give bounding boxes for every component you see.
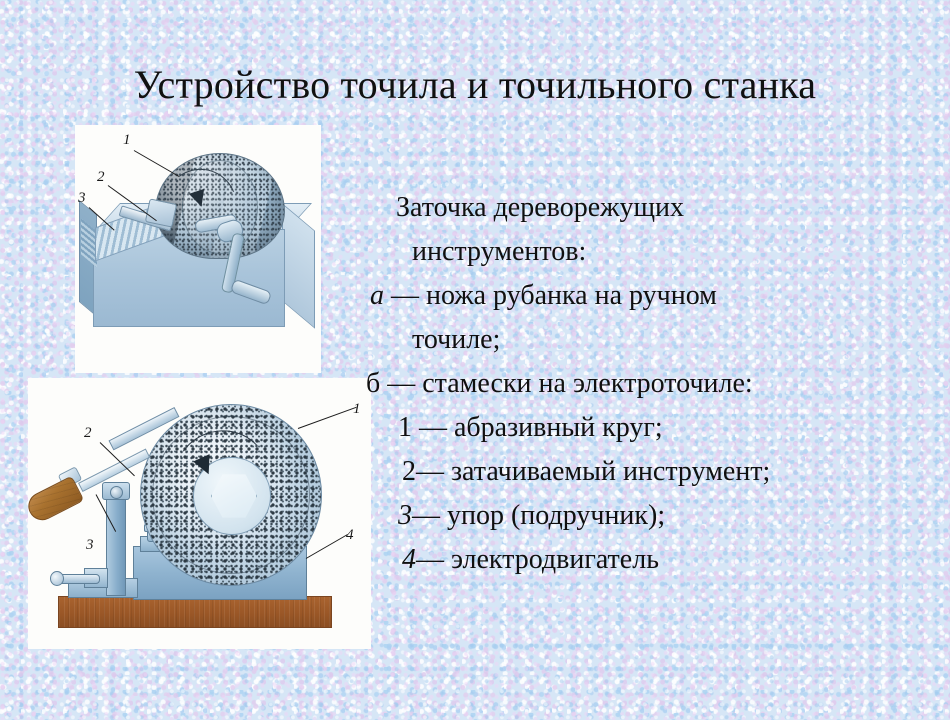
wooden-base [58, 596, 332, 628]
text-line-item-4: 4— электродвигатель [366, 538, 944, 582]
item-a-key: а [370, 280, 384, 311]
item-3-key: 3 [398, 500, 412, 531]
leader-line-elec-1 [298, 407, 357, 429]
figure-label-hand-2: 2 [97, 170, 105, 185]
wood-grain-texture [59, 597, 331, 627]
leader-line-hand-1 [134, 150, 180, 177]
hand-grinder-illustration: 1 2 3 [75, 125, 321, 373]
figure-label-elec-2: 2 [84, 426, 92, 441]
item-4-text: — электродвигатель [416, 544, 659, 575]
text-line-item-2: 2— затачиваемый инструмент; [366, 450, 944, 494]
figure-label-elec-3: 3 [86, 538, 94, 553]
chisel-wooden-handle [28, 476, 84, 525]
text-line-heading-1: Заточка дереворежущих [366, 186, 944, 230]
handle-grain-texture [28, 477, 83, 524]
item-3-text: — упор (подручник); [412, 500, 665, 531]
text-line-heading-2: инструментов: [366, 230, 944, 274]
figure-label-hand-1: 1 [123, 133, 131, 148]
body-text-block: Заточка дереворежущих инструментов: а — … [366, 186, 944, 582]
figure-hand-grinder: 1 2 3 [75, 125, 321, 373]
figure-label-elec-1: 1 [353, 402, 361, 417]
clamp-knob [50, 571, 64, 586]
abrasive-wheel-electric [140, 404, 322, 586]
figure-label-hand-3: 3 [78, 191, 86, 206]
text-line-item-1: 1 — абразивный круг; [366, 406, 944, 450]
figure-label-elec-4: 4 [346, 528, 354, 543]
text-line-item-a: а — ножа рубанка на ручном [366, 274, 944, 318]
tool-rest-pivot [110, 486, 123, 499]
text-line-item-b: б — стамески на электроточиле: [366, 362, 944, 406]
page-title: Устройство точила и точильного станка [0, 62, 950, 108]
figure-electric-grinder: 1 2 3 4 [28, 378, 371, 649]
text-line-item-3: 3— упор (подручник); [366, 494, 944, 538]
text-line-item-a-cont: точиле; [366, 318, 944, 362]
leader-line-elec-4 [306, 534, 348, 559]
item-a-text: — ножа рубанка на ручном [384, 280, 717, 311]
tool-rest-post [106, 490, 126, 596]
bench-right-face [282, 203, 315, 329]
item-4-key: 4 [402, 544, 416, 575]
electric-grinder-illustration: 1 2 3 4 [28, 378, 371, 649]
